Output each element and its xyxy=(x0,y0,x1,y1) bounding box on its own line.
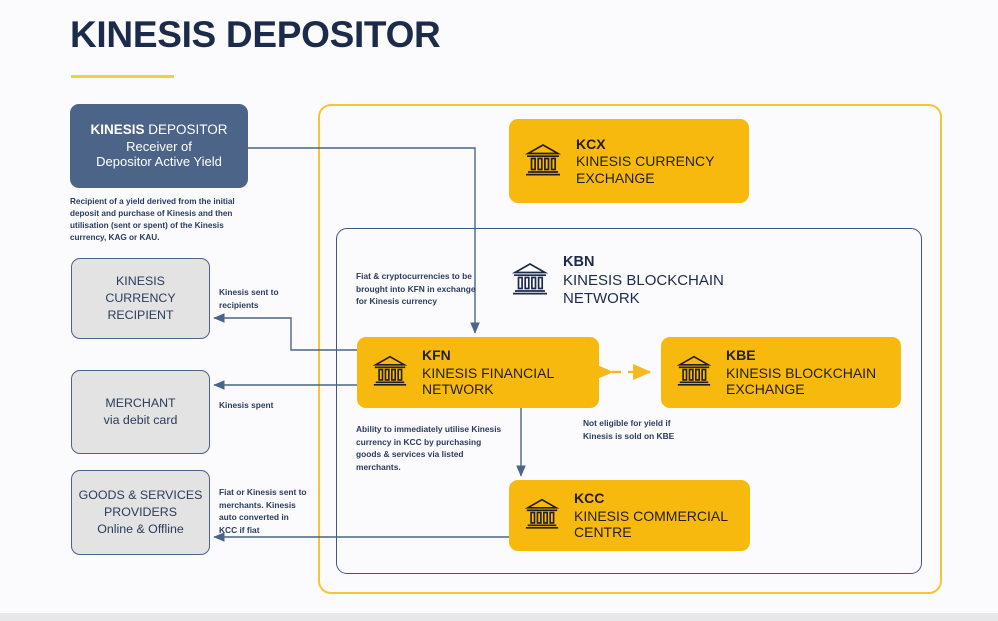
kcc-card: KCC KINESIS COMMERCIAL CENTRE xyxy=(509,480,750,551)
kcx-name-line1: KINESIS CURRENCY xyxy=(576,153,714,169)
bank-icon xyxy=(523,494,561,537)
title-underline-rule xyxy=(71,75,174,78)
bank-icon xyxy=(510,258,550,303)
recipient-line1: KINESIS xyxy=(116,273,165,290)
caption-not-eligible-for-yield: Not eligible for yield if Kinesis is sol… xyxy=(583,417,695,442)
bank-icon xyxy=(675,351,713,394)
kcc-name-line2: CENTRE xyxy=(574,524,728,540)
depositor-line2: Receiver of xyxy=(126,139,192,154)
kcx-card: KCX KINESIS CURRENCY EXCHANGE xyxy=(509,119,749,203)
kcx-code: KCX xyxy=(576,136,714,152)
kinesis-depositor-card: KINESIS DEPOSITOR Receiver of Depositor … xyxy=(70,104,248,188)
caption-ability-to-utilise: Ability to immediately utilise Kinesis c… xyxy=(356,423,506,473)
merchant-line2: via debit card xyxy=(104,412,178,429)
goods-line3: Online & Offline xyxy=(97,521,184,538)
diagram-canvas: KINESIS DEPOSITOR KIN xyxy=(0,0,998,621)
bottom-strip xyxy=(0,613,998,621)
depositor-note: Recipient of a yield derived from the in… xyxy=(70,196,235,244)
goods-line2: PROVIDERS xyxy=(104,504,177,521)
bank-icon xyxy=(523,139,563,184)
caption-fiat-crypto-into-kfn: Fiat & cryptocurrencies to be brought in… xyxy=(356,270,481,308)
depositor-title-bold: KINESIS xyxy=(90,122,144,137)
recipient-line2: CURRENCY RECIPIENT xyxy=(72,290,209,323)
kbn-code: KBN xyxy=(563,254,724,271)
depositor-title-rest: DEPOSITOR xyxy=(144,122,227,137)
kcx-text: KCX KINESIS CURRENCY EXCHANGE xyxy=(576,136,714,186)
kfn-card: KFN KINESIS FINANCIAL NETWORK xyxy=(357,337,599,408)
kcc-code: KCC xyxy=(574,490,728,506)
goods-line1: GOODS & SERVICES xyxy=(79,487,203,504)
caption-goods-flow: Fiat or Kinesis sent to merchants. Kines… xyxy=(219,486,309,536)
caption-kinesis-spent: Kinesis spent xyxy=(219,399,299,412)
kbn-name-line2: NETWORK xyxy=(563,290,724,308)
kbe-name-line1: KINESIS BLOCKCHAIN xyxy=(726,365,876,381)
kbe-name-line2: EXCHANGE xyxy=(726,381,876,397)
kbn-name-line1: KINESIS BLOCKCHAIN xyxy=(563,272,724,290)
kbe-card: KBE KINESIS BLOCKCHAIN EXCHANGE xyxy=(661,337,901,408)
page-title: KINESIS DEPOSITOR xyxy=(70,14,440,56)
kbe-text: KBE KINESIS BLOCKCHAIN EXCHANGE xyxy=(726,347,876,397)
depositor-line3: Depositor Active Yield xyxy=(96,154,222,169)
kbn-text: KBN KINESIS BLOCKCHAIN NETWORK xyxy=(563,254,724,307)
kcc-text: KCC KINESIS COMMERCIAL CENTRE xyxy=(574,490,728,540)
merchant-line1: MERCHANT xyxy=(105,395,175,412)
kcx-name-line2: EXCHANGE xyxy=(576,170,714,186)
depositor-title: KINESIS DEPOSITOR xyxy=(90,122,227,138)
kcc-name-line1: KINESIS COMMERCIAL xyxy=(574,508,728,524)
kinesis-currency-recipient-box: KINESIS CURRENCY RECIPIENT xyxy=(71,258,210,339)
kfn-name-line2: NETWORK xyxy=(422,381,554,397)
kbn-label: KBN KINESIS BLOCKCHAIN NETWORK xyxy=(510,254,724,307)
kfn-name-line1: KINESIS FINANCIAL xyxy=(422,365,554,381)
kfn-code: KFN xyxy=(422,347,554,363)
merchant-box: MERCHANT via debit card xyxy=(71,370,210,454)
caption-kinesis-sent-to-recipients: Kinesis sent to recipients xyxy=(219,286,299,311)
bank-icon xyxy=(371,351,409,394)
kfn-text: KFN KINESIS FINANCIAL NETWORK xyxy=(422,347,554,397)
goods-services-providers-box: GOODS & SERVICES PROVIDERS Online & Offl… xyxy=(71,470,210,555)
kbe-code: KBE xyxy=(726,347,876,363)
